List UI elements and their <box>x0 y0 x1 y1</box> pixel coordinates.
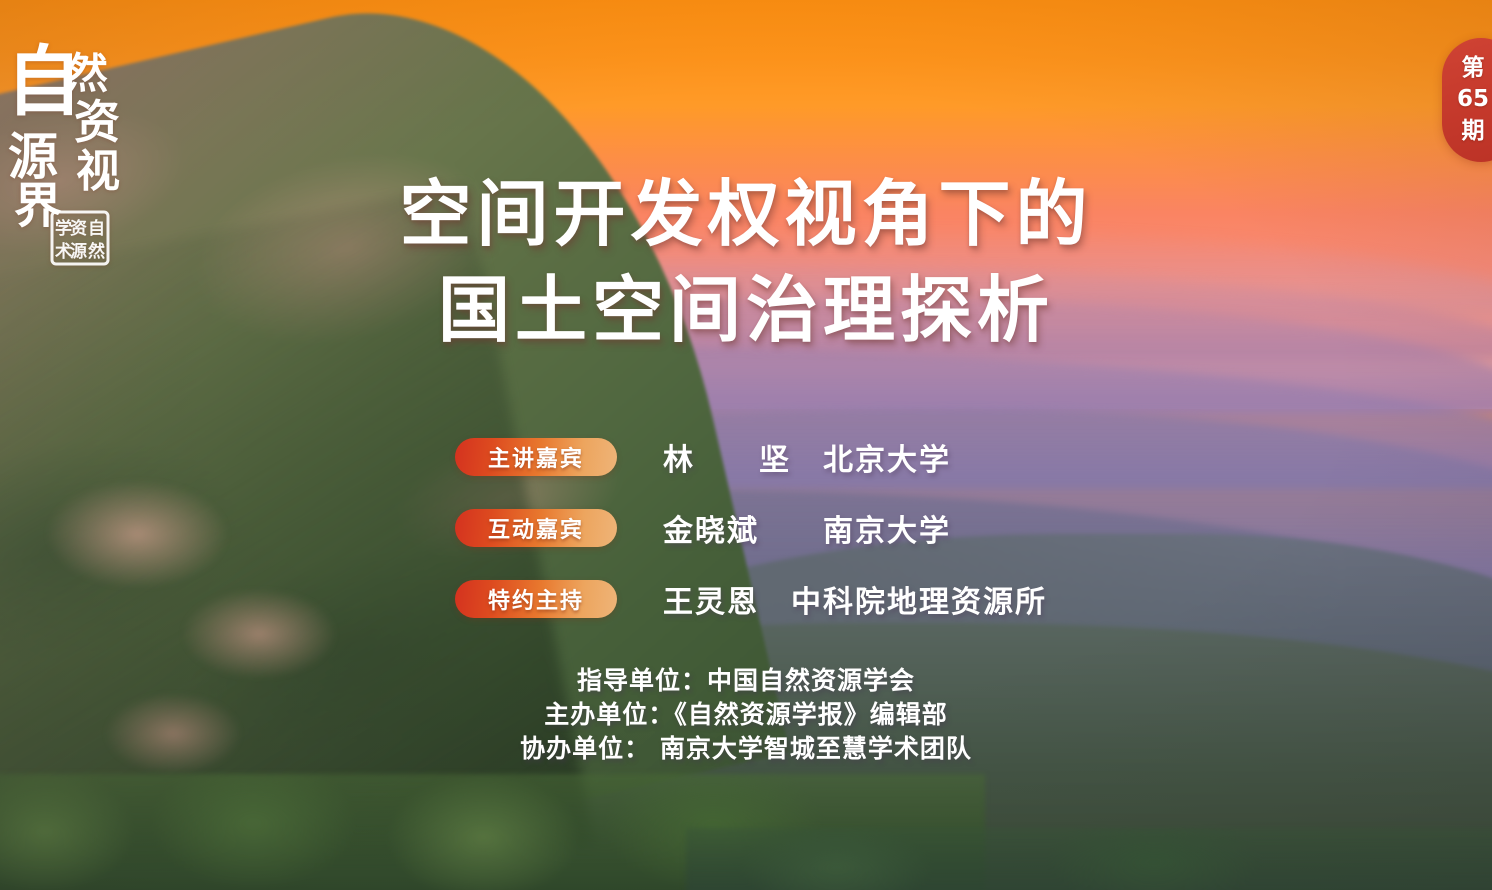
speaker-row-keynote: 主讲嘉宾 林 坚 北京大学 <box>455 438 1435 476</box>
organizer-line-host: 主办单位：《自然资源学报》编辑部 <box>0 698 1492 732</box>
speaker-role-label: 主讲嘉宾 <box>488 441 584 473</box>
episode-badge: 第 65 期 <box>1442 38 1492 162</box>
title-line-1: 空间开发权视角下的 <box>0 166 1492 262</box>
organizer-line-guidance: 指导单位：中国自然资源学会 <box>0 664 1492 698</box>
page-title: 空间开发权视角下的 国土空间治理探析 <box>0 166 1492 358</box>
organizer-list: 指导单位：中国自然资源学会 主办单位：《自然资源学报》编辑部 协办单位： 南京大… <box>0 664 1492 766</box>
episode-suffix: 期 <box>1462 117 1485 146</box>
speaker-list: 主讲嘉宾 林 坚 北京大学 互动嘉宾 金晓斌 南京大学 特约主持 王灵恩 中科院… <box>455 438 1435 651</box>
organizer-line-coorganizer: 协办单位： 南京大学智城至慧学术团队 <box>0 732 1492 766</box>
speaker-row-discussant: 互动嘉宾 金晓斌 南京大学 <box>455 509 1435 547</box>
speaker-role-tag-discussant: 互动嘉宾 <box>455 509 617 547</box>
speaker-role-label: 互动嘉宾 <box>488 512 584 544</box>
episode-number: 65 <box>1457 85 1489 114</box>
title-line-2: 国土空间治理探析 <box>0 262 1492 358</box>
webinar-poster: 自 然 资 源 视 界 自 资 学 然 源 术 第 65 期 空间开发权视角下的… <box>0 0 1492 890</box>
speaker-name-keynote: 林 坚 北京大学 <box>663 435 951 479</box>
episode-prefix: 第 <box>1462 54 1485 83</box>
speaker-name-discussant: 金晓斌 南京大学 <box>663 506 951 550</box>
speaker-role-tag-keynote: 主讲嘉宾 <box>455 438 617 476</box>
logo-char-ran: 然 <box>66 49 108 98</box>
speaker-role-tag-host: 特约主持 <box>455 580 617 618</box>
speaker-role-label: 特约主持 <box>488 583 584 615</box>
speaker-name-host: 王灵恩 中科院地理资源所 <box>663 577 1047 621</box>
speaker-row-host: 特约主持 王灵恩 中科院地理资源所 <box>455 580 1435 618</box>
logo-char-zi2: 资 <box>74 95 120 149</box>
